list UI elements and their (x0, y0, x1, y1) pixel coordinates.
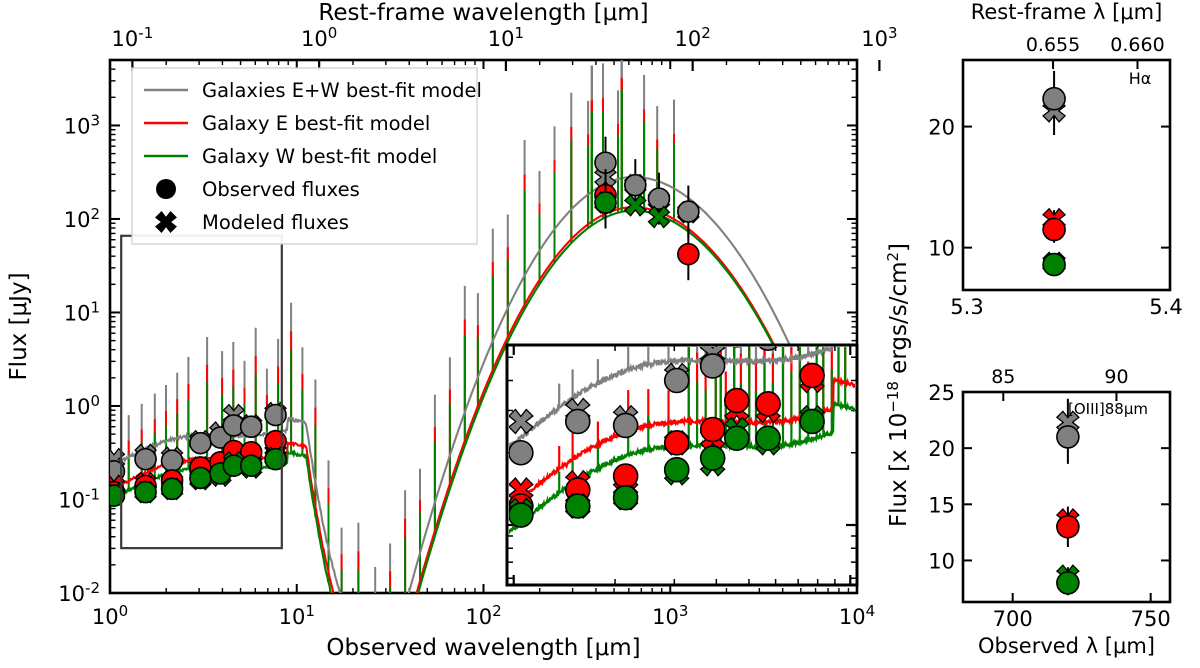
observed-flux-marker (800, 409, 824, 433)
observed-flux-marker (648, 188, 669, 209)
y-tick-label: 10-1 (58, 485, 100, 512)
observed-flux-marker (614, 486, 638, 510)
x-tick-label-top: 102 (675, 24, 711, 51)
oiii-bottom-axis-title: Observed λ [μm] (978, 634, 1155, 658)
legend-label-3: Observed fluxes (202, 178, 360, 201)
observed-flux-marker (509, 503, 533, 527)
observed-flux-marker (162, 478, 183, 499)
sed-figure: Galaxies E+W best-fit modelGalaxy E best… (0, 0, 1200, 668)
observed-flux-marker (162, 450, 183, 471)
ha-plot-frame (963, 60, 1170, 290)
main-legend: Galaxies E+W best-fit modelGalaxy E best… (132, 68, 482, 244)
legend-circle-swatch (156, 179, 176, 199)
x-tick-label-bottom: 102 (465, 602, 501, 629)
x-tick-label-bottom: 103 (652, 602, 688, 629)
observed-flux-marker (614, 464, 638, 488)
x-axis-title-top: Rest-frame wavelength [μm] (318, 0, 648, 26)
y-tick-label: 101 (64, 298, 100, 325)
modeled-flux-marker (800, 291, 824, 315)
oiii-bottom-tick-label: 700 (993, 607, 1033, 631)
observed-flux-marker (678, 201, 699, 222)
oiii-y-tick-label: 25 (928, 381, 955, 405)
legend-label-0: Galaxies E+W best-fit model (202, 79, 482, 102)
oiii-annotation: [OIII]88μm (1068, 400, 1148, 418)
observed-flux-marker (701, 446, 725, 470)
cross-shape (725, 296, 749, 320)
x-tick-label-bottom: 100 (92, 602, 128, 629)
observed-flux-marker (800, 363, 824, 387)
ha-top-tick-label: 0.660 (1110, 34, 1164, 56)
oiii-y-tick-label: 15 (928, 493, 955, 517)
observed-flux-marker (701, 354, 725, 378)
observed-flux-marker (595, 192, 616, 213)
ha-annotation: Hα (1129, 69, 1152, 88)
oiii-y-tick-label: 20 (928, 437, 955, 461)
x-tick-label-top: 103 (861, 24, 897, 51)
observed-flux-marker (566, 494, 590, 518)
y-tick-label: 102 (64, 205, 100, 232)
observed-flux-marker (756, 426, 780, 450)
right-y-axis-title: Flux [x 10−18 ergs/s/cm2] (884, 243, 912, 527)
oiii-top-tick-label: 90 (1104, 366, 1128, 388)
observed-flux-marker (241, 416, 262, 437)
modeled-flux-marker (725, 296, 749, 320)
y-tick-label: 10-2 (58, 579, 100, 606)
ha-observed-marker (1043, 88, 1065, 110)
observed-flux-marker (566, 409, 590, 433)
oiii-observed-marker (1057, 516, 1079, 538)
ha-bottom-tick-label: 5.3 (950, 295, 983, 319)
ha-bottom-tick-label: 5.4 (1149, 295, 1182, 319)
x-tick-label-top: 100 (301, 24, 337, 51)
observed-flux-marker (509, 441, 533, 465)
legend-label-4: Modeled fluxes (202, 211, 349, 234)
legend-label-2: Galaxy W best-fit model (202, 145, 437, 168)
y-tick-label: 100 (64, 392, 100, 419)
oiii-top-tick-label: 85 (991, 366, 1015, 388)
ha-observed-marker (1043, 218, 1065, 240)
figure-canvas: Galaxies E+W best-fit modelGalaxy E best… (0, 0, 1200, 668)
observed-flux-marker (725, 426, 749, 450)
oiii-observed-marker (1057, 426, 1079, 448)
y-axis-title: Flux [μJy] (6, 272, 32, 380)
oiii-observed-marker (1057, 572, 1079, 594)
observed-flux-marker (800, 296, 824, 320)
ha-y-tick-label: 20 (928, 116, 955, 140)
x-tick-label-top: 101 (488, 24, 524, 51)
observed-flux-marker (725, 389, 749, 413)
observed-flux-marker (190, 467, 211, 488)
x-tick-label-bottom: 101 (279, 602, 315, 629)
observed-flux-marker (614, 413, 638, 437)
observed-flux-marker (665, 458, 689, 482)
ha-y-tick-label: 10 (928, 237, 955, 261)
observed-flux-marker (241, 455, 262, 476)
oiii-y-tick-label: 10 (928, 549, 955, 573)
observed-flux-marker (625, 175, 646, 196)
observed-flux-marker (725, 323, 749, 347)
x-axis-title-bottom: Observed wavelength [μm] (326, 635, 640, 661)
observed-flux-marker (665, 369, 689, 393)
observed-flux-marker (665, 431, 689, 455)
ha-observed-marker (1043, 254, 1065, 276)
observed-flux-marker (756, 392, 780, 416)
observed-flux-marker (678, 244, 699, 265)
observed-flux-marker (190, 433, 211, 454)
oiii-bottom-tick-label: 750 (1131, 607, 1171, 631)
observed-flux-marker (135, 449, 156, 470)
y-tick-label: 103 (64, 111, 100, 138)
x-tick-label-bottom: 104 (839, 602, 875, 629)
observed-flux-marker (701, 417, 725, 441)
observed-flux-marker (135, 482, 156, 503)
legend-label-1: Galaxy E best-fit model (202, 112, 430, 135)
ha-panel (963, 60, 1170, 290)
x-tick-label-top: 10-1 (112, 24, 154, 51)
cross-shape (800, 291, 824, 315)
ha-top-tick-label: 0.655 (1026, 34, 1080, 56)
ha-top-axis-title: Rest-frame λ [μm] (971, 0, 1163, 24)
oiii-panel (963, 392, 1170, 602)
